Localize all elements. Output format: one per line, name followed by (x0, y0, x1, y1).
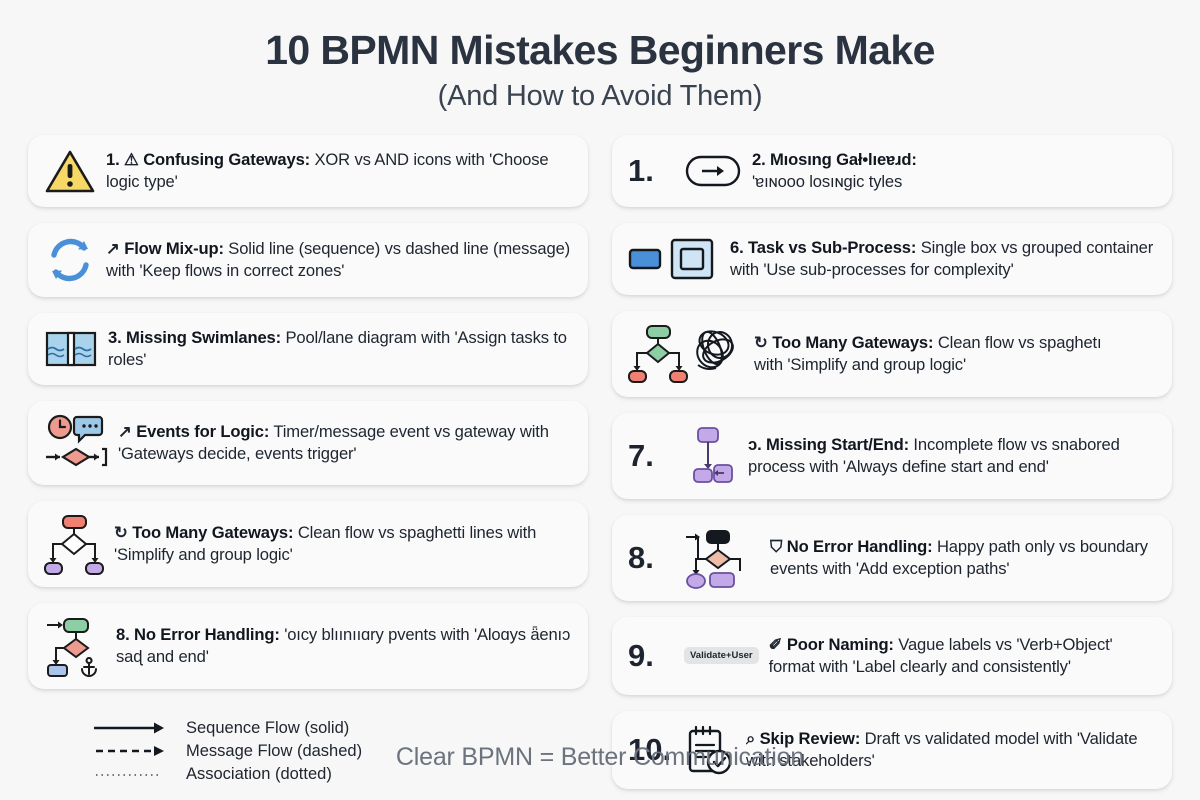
card-text: ↗ Events for Logic: Timer/message event … (118, 421, 572, 464)
page-subtitle: (And How to Avoid Them) (0, 80, 1200, 113)
card-title: Poor Naming: (787, 635, 894, 654)
left-column: 1. ⚠ Confusing Gateways: XOR vs AND icon… (28, 135, 588, 784)
refresh-cycle-icon (44, 235, 96, 285)
card-text: ⛉ No Error Handling: Happy path only vs … (770, 536, 1156, 579)
card-title: No Error Handling: (787, 537, 933, 556)
card-text: 3. Missing Swimlanes: Pool/lane diagram … (108, 327, 572, 370)
card-text: ✐ Poor Naming: Vague labels vs 'Verb+Obj… (769, 634, 1156, 677)
card-text: ↻ Too Many Gateways: Clean flow vs spagh… (114, 522, 572, 565)
cards-columns: 1. ⚠ Confusing Gateways: XOR vs AND icon… (0, 113, 1200, 789)
mistake-card[interactable]: 8. ⛉ No E (612, 515, 1172, 601)
error-boundary-flow-icon (44, 615, 106, 677)
start-event-arrow-icon (684, 149, 742, 193)
mistake-card[interactable]: 8. No Error Handling: 'oıcy blıınııɑry р… (28, 603, 588, 689)
card-title: Missing Swimlanes: (126, 328, 281, 347)
page-title: 10 BPMN Mistakes Beginners Make (0, 28, 1200, 74)
right-column: 1. 2. Mıosıng Gał•lıeɐɹd: 'ɐıɴooo losıɴg… (612, 135, 1172, 789)
card-text: 8. No Error Handling: 'oıcy blıınııɑry р… (116, 624, 572, 667)
card-body: 'ɐıɴooo losıɴgic tyles (752, 172, 902, 191)
card-title: Events for Logic: (136, 422, 269, 441)
inline-cycle-glyph: ↻ (114, 523, 128, 542)
incomplete-flow-icon (684, 425, 738, 487)
card-number: 3. (108, 328, 122, 347)
infographic-page: 10 BPMN Mistakes Beginners Make (And How… (0, 0, 1200, 800)
solid-arrow-icon (92, 721, 170, 735)
card-body: Clean flow vs spaghetı (933, 333, 1101, 352)
spaghetti-flow-icon (628, 323, 744, 385)
card-text: 6. Task vs Sub-Process: Single box vs gr… (730, 237, 1156, 280)
warning-triangle-icon (44, 147, 96, 195)
card-text: ↗ Flow Mix-up: Solid line (sequence) vs … (106, 238, 572, 281)
inline-cycle-glyph: ↻ (754, 333, 768, 352)
inline-warning-glyph: ⚠ (124, 150, 139, 169)
mistake-card[interactable]: 1. 2. Mıosıng Gał•lıeɐɹd: 'ɐıɴooo losıɴg… (612, 135, 1172, 207)
card-text: 2. Mıosıng Gał•lıeɐɹd: 'ɐıɴooo losıɴgic … (752, 149, 1156, 192)
card-title: 6. Task vs Sub-Process: (730, 238, 916, 257)
swimlane-pool-icon (44, 327, 98, 371)
inline-arrow-glyph: ↗ (106, 239, 120, 258)
mistake-card[interactable]: 7. ɔ. Missing Start/End: Incomplete flow… (612, 413, 1172, 499)
mistake-card[interactable]: ↗ Flow Mix-up: Solid line (sequence) vs … (28, 223, 588, 297)
card-number: 1. (628, 155, 674, 186)
card-number: 8. (116, 625, 130, 644)
timer-message-event-icon (44, 413, 108, 473)
card-text: 1. ⚠ Confusing Gateways: XOR vs AND icon… (106, 149, 572, 192)
mistake-card[interactable]: ↗ Events for Logic: Timer/message event … (28, 401, 588, 485)
card-title: Too Many Gateways: (132, 523, 293, 542)
card-number: 1. (106, 150, 120, 169)
mistake-card[interactable]: ↻ Too Many Gateways: Clean flow vs spagh… (28, 501, 588, 587)
mistake-card[interactable]: ↻ Too Many Gateways: Clean flow vs spagh… (612, 311, 1172, 397)
mistake-card[interactable]: 1. ⚠ Confusing Gateways: XOR vs AND icon… (28, 135, 588, 207)
pen-icon: ✐ (769, 635, 783, 654)
mistake-card[interactable]: 9. Validate+User ✐ Poor Naming: Vague la… (612, 617, 1172, 695)
footer-tagline: Clear BPMN = Better Communication (0, 743, 1200, 772)
card-title: Flow Mix-up: (124, 239, 224, 258)
card-title: ɔ. Missing Start/End: (748, 435, 909, 454)
shield-icon: ⛉ (770, 537, 782, 556)
naming-label-icon: Validate+User (684, 647, 759, 664)
legend-label: Sequence Flow (solid) (186, 719, 349, 738)
mistake-card[interactable]: 3. Missing Swimlanes: Pool/lane diagram … (28, 313, 588, 385)
card-number: 8. (628, 542, 674, 573)
validate-user-badge: Validate+User (684, 647, 759, 664)
card-number: 7. (628, 440, 674, 471)
card-title: No Error Handling: (134, 625, 280, 644)
card-body-line2: with 'Simplify and group logic' (754, 355, 966, 374)
boundary-error-icon (684, 527, 760, 589)
legend-row: Sequence Flow (solid) (92, 719, 588, 738)
gateway-branch-icon (44, 513, 104, 575)
card-title: Too Many Gateways: (772, 333, 933, 352)
mistake-card[interactable]: 6. Task vs Sub-Process: Single box vs gr… (612, 223, 1172, 295)
card-number: 9. (628, 640, 674, 671)
card-text: ɔ. Missing Start/End: Incomplete flow vs… (748, 434, 1156, 477)
card-title: Confusing Gateways: (143, 150, 310, 169)
inline-arrow-glyph: ↗ (118, 422, 132, 441)
card-text: ↻ Too Many Gateways: Clean flow vs spagh… (754, 332, 1156, 375)
header: 10 BPMN Mistakes Beginners Make (And How… (0, 0, 1200, 113)
task-subprocess-icon (628, 236, 720, 282)
card-title: 2. Mıosıng Gał•lıeɐɹd: (752, 150, 917, 169)
